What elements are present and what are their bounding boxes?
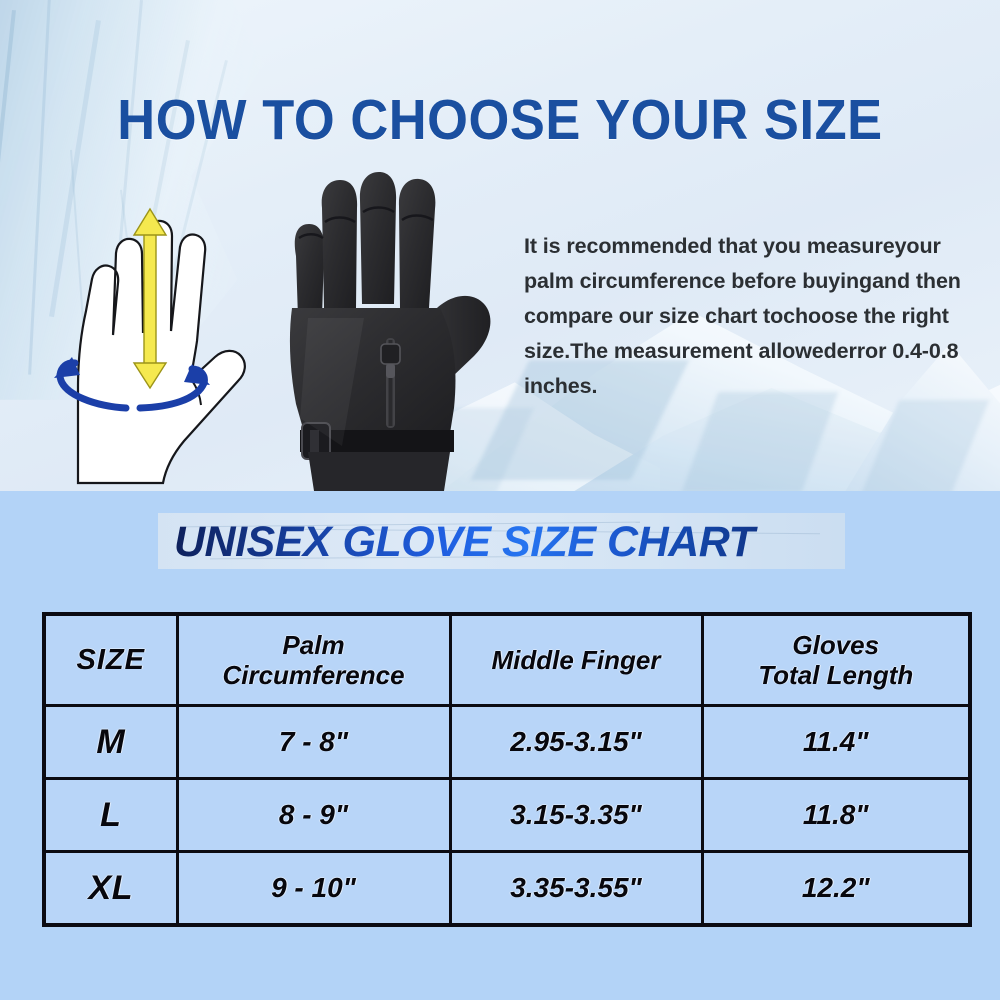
cell-palm-circumference: 7 - 8" bbox=[177, 706, 450, 779]
hand-measurement-diagram bbox=[34, 183, 284, 483]
glove-size-table: SIZE Palm Circumference Middle Finger Gl… bbox=[42, 612, 972, 927]
table-row: M 7 - 8" 2.95-3.15" 11.4" bbox=[44, 706, 970, 779]
table-header-row: SIZE Palm Circumference Middle Finger Gl… bbox=[44, 614, 970, 706]
cell-middle-finger: 2.95-3.15" bbox=[450, 706, 702, 779]
page-title: HOW TO CHOOSE YOUR SIZE bbox=[40, 87, 960, 153]
sizing-instructions-text: It is recommended that you measureyour p… bbox=[524, 229, 976, 404]
column-header-middle-finger: Middle Finger bbox=[450, 614, 702, 706]
hand-outline bbox=[78, 221, 245, 483]
cell-size: M bbox=[44, 706, 177, 779]
glove-cuff bbox=[308, 452, 450, 491]
column-header-size: SIZE bbox=[44, 614, 177, 706]
cell-total-length: 12.2" bbox=[702, 852, 970, 926]
hero-photo-section: HOW TO CHOOSE YOUR SIZE bbox=[0, 0, 1000, 491]
glove-finger bbox=[360, 172, 396, 304]
column-header-gloves-total-length: Gloves Total Length bbox=[702, 614, 970, 706]
table-row: XL 9 - 10" 3.35-3.55" 12.2" bbox=[44, 852, 970, 926]
glove-finger bbox=[399, 179, 435, 308]
cell-size: XL bbox=[44, 852, 177, 926]
cell-middle-finger: 3.35-3.55" bbox=[450, 852, 702, 926]
header-line-1: Palm bbox=[282, 630, 344, 660]
header-line-2: Circumference bbox=[222, 660, 404, 690]
cell-total-length: 11.8" bbox=[702, 779, 970, 852]
size-chart-infographic: HOW TO CHOOSE YOUR SIZE bbox=[0, 0, 1000, 1000]
header-line-1: Gloves bbox=[792, 630, 879, 660]
header-line-2: Total Length bbox=[758, 660, 913, 690]
cell-middle-finger: 3.15-3.35" bbox=[450, 779, 702, 852]
column-header-palm-circumference: Palm Circumference bbox=[177, 614, 450, 706]
cell-palm-circumference: 9 - 10" bbox=[177, 852, 450, 926]
glove-finger bbox=[322, 180, 357, 308]
chart-heading: UNISEX GLOVE SIZE CHART bbox=[158, 515, 864, 569]
glove-product-photo bbox=[268, 168, 518, 491]
cell-palm-circumference: 8 - 9" bbox=[177, 779, 450, 852]
cell-total-length: 11.4" bbox=[702, 706, 970, 779]
cell-size: L bbox=[44, 779, 177, 852]
table-row: L 8 - 9" 3.15-3.35" 11.8" bbox=[44, 779, 970, 852]
